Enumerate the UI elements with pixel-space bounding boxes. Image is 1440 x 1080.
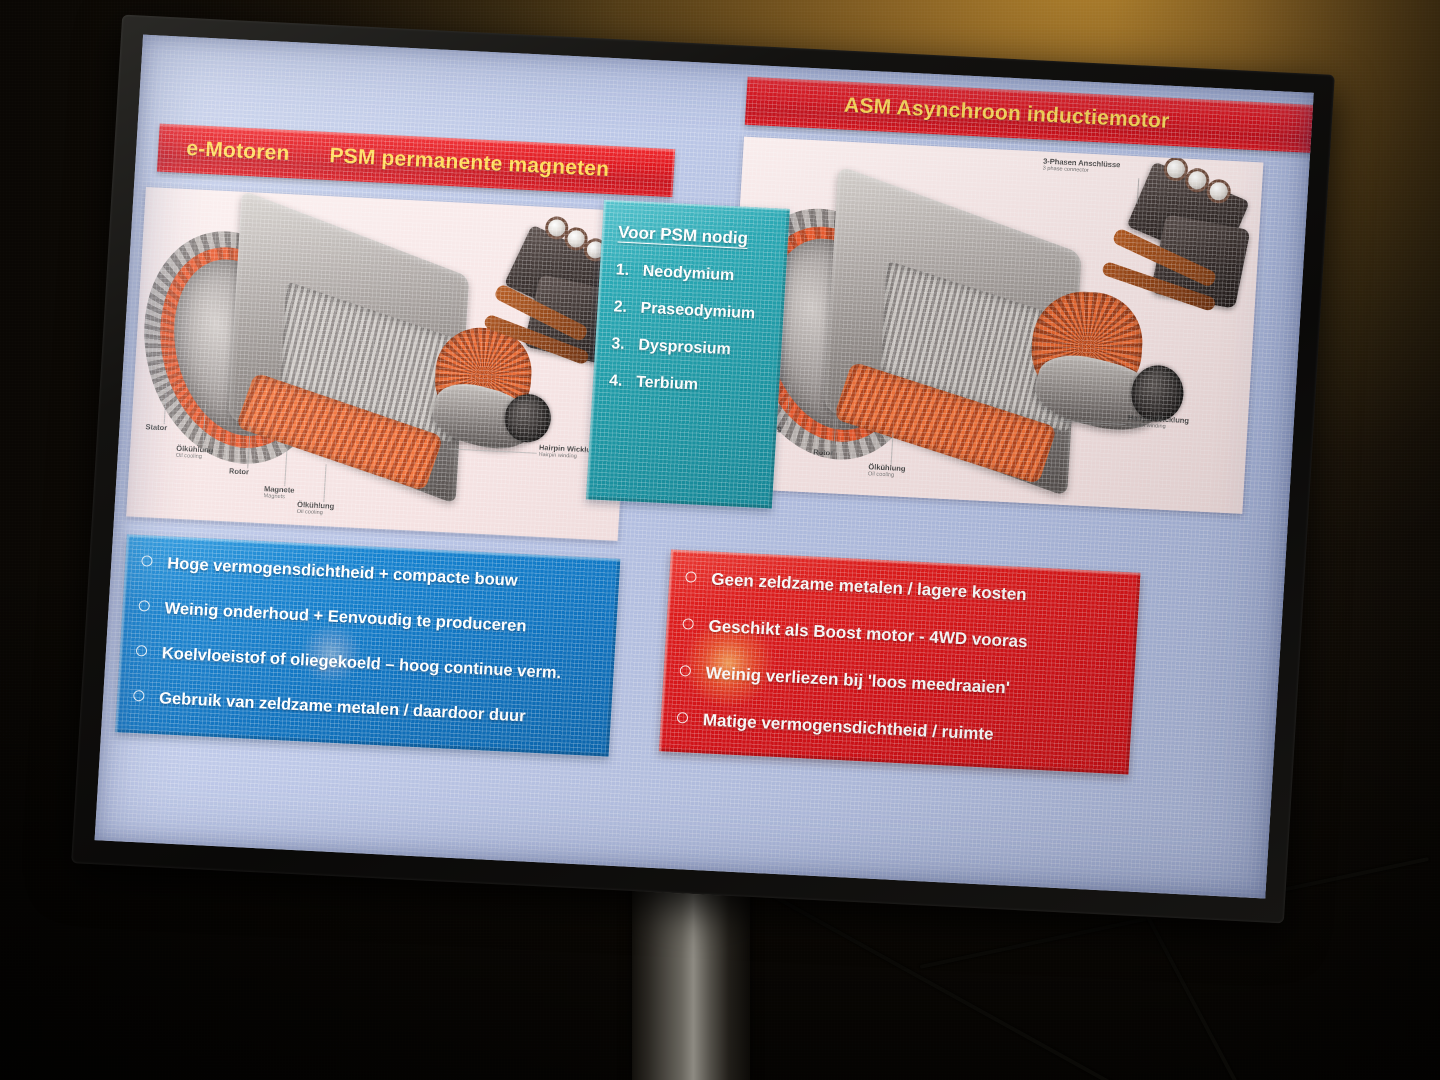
monitor-stand-pole <box>632 876 750 1080</box>
list-item: Gebruik van zeldzame metalen / daardoor … <box>133 688 598 730</box>
list-item-label: Weinig verliezen bij 'loos meedraaien' <box>705 663 1010 698</box>
callout-right-rotor: Rotor <box>813 448 833 457</box>
callout-left-stator: Stator <box>145 423 167 432</box>
asm-motor-illustration <box>723 137 1264 514</box>
bullet-ring-icon <box>136 645 148 657</box>
list-item: Weinig onderhoud + Eenvoudig te producer… <box>138 598 603 640</box>
banner-left-kicker: e-Motoren <box>186 137 291 166</box>
list-item: Geschikt als Boost motor - 4WD vooras <box>682 615 1123 657</box>
psm-requirements-title: Voor PSM nodig <box>617 223 776 251</box>
bullet-ring-icon <box>677 712 689 724</box>
callout-left-rotor: Rotor <box>229 467 249 476</box>
monitor-screen[interactable]: e-Motoren PSM permanente magneten ASM As… <box>95 35 1314 899</box>
callout-left-oilcooling-1: Ölkühlung Oil cooling <box>176 445 214 461</box>
bullet-ring-icon <box>679 665 691 677</box>
list-item: 2. Praseodymium <box>613 298 772 324</box>
list-item-number: 3. <box>611 335 628 354</box>
bullet-ring-icon <box>141 555 153 567</box>
list-item: 1. Neodymium <box>615 261 774 287</box>
photo-asm-motor: 3-Phasen Anschlüsse 3 phase connector St… <box>723 137 1264 514</box>
list-item-number: 2. <box>613 298 630 317</box>
callout-right-hairpin: Hairpin Wicklung Hairpin winding <box>1127 414 1189 432</box>
bullet-ring-icon <box>133 690 145 702</box>
screenshot-root: e-Motoren PSM permanente magneten ASM As… <box>0 0 1440 1080</box>
banner-right-title: ASM Asynchroon inductiemotor <box>843 94 1170 134</box>
monitor: e-Motoren PSM permanente magneten ASM As… <box>71 15 1335 924</box>
list-item-number: 4. <box>609 372 626 391</box>
list-item-label: Gebruik van zeldzame metalen / daardoor … <box>159 689 526 726</box>
asm-pros-cons-box: Geen zeldzame metalen / lagere kosten Ge… <box>659 550 1141 775</box>
asm-bullet-list: Geen zeldzame metalen / lagere kosten Ge… <box>676 568 1125 751</box>
list-item-label: Terbium <box>636 374 699 395</box>
list-item-label: Neodymium <box>642 263 735 286</box>
list-item-label: Weinig onderhoud + Eenvoudig te producer… <box>164 599 527 636</box>
list-item-label: Praseodymium <box>640 300 756 324</box>
list-item: Matige vermogensdichtheid / ruimte <box>676 709 1117 751</box>
list-item: Weinig verliezen bij 'loos meedraaien' <box>679 662 1120 704</box>
list-item: Koelvloeistof of oliegekoeld – hoog cont… <box>135 643 600 685</box>
list-item-label: Koelvloeistof of oliegekoeld – hoog cont… <box>161 644 561 683</box>
list-item: Geen zeldzame metalen / lagere kosten <box>685 568 1126 610</box>
callout-right-oilcooling-2: Ölkühlung Oil cooling <box>868 463 906 479</box>
list-item-number: 1. <box>615 261 632 280</box>
monitor-bezel: e-Motoren PSM permanente magneten ASM As… <box>71 15 1335 924</box>
bullet-ring-icon <box>685 571 697 583</box>
psm-pros-cons-box: Hoge vermogensdichtheid + compacte bouw … <box>115 534 620 756</box>
list-item-label: Geschikt als Boost motor - 4WD vooras <box>708 616 1028 652</box>
callout-left-magnete: Magnete Magnets <box>263 485 294 501</box>
callout-left-oilcooling-2: Ölkühlung Oil cooling <box>296 501 334 517</box>
list-item-label: Hoge vermogensdichtheid + compacte bouw <box>167 554 518 590</box>
psm-bullet-list: Hoge vermogensdichtheid + compacte bouw … <box>133 553 606 730</box>
bullet-ring-icon <box>682 618 694 630</box>
bullet-ring-icon <box>138 600 150 612</box>
list-item-label: Matige vermogensdichtheid / ruimte <box>702 710 994 744</box>
psm-requirements-box: Voor PSM nodig 1. Neodymium 2. Praseodym… <box>586 200 790 509</box>
list-item: 3. Dysprosium <box>611 335 770 361</box>
list-item-label: Geen zeldzame metalen / lagere kosten <box>711 570 1027 606</box>
psm-motor-illustration <box>126 187 637 541</box>
psm-requirements-list: 1. Neodymium 2. Praseodymium 3. Dysprosi… <box>609 261 775 398</box>
photo-psm-motor: Stator Ölkühlung Oil cooling Rotor Magne… <box>126 187 637 541</box>
list-item: 4. Terbium <box>609 372 768 398</box>
list-item: Hoge vermogensdichtheid + compacte bouw <box>141 553 606 595</box>
banner-left-title: PSM permanente magneten <box>329 144 610 182</box>
list-item-label: Dysprosium <box>638 337 731 360</box>
